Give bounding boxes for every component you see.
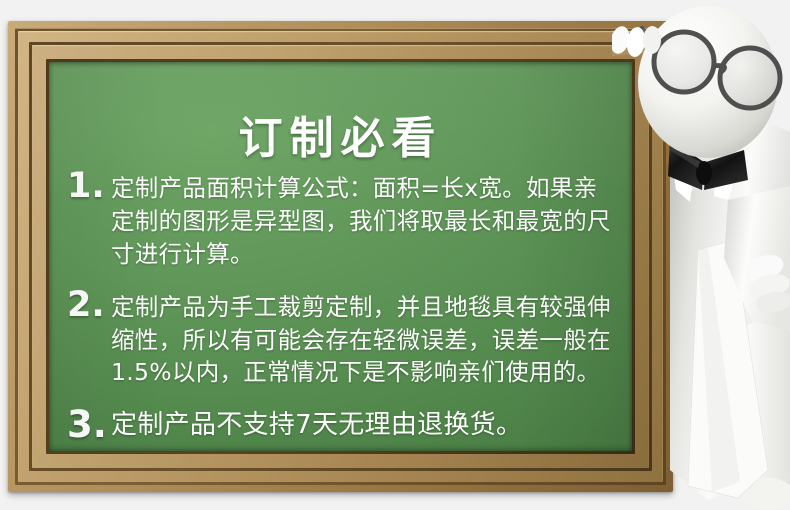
poster-canvas: 订制必看 1. 定制产品面积计算公式：面积=长x宽。如果亲定制的图形是异型图，我… <box>0 0 790 510</box>
rules-list: 1. 定制产品面积计算公式：面积=长x宽。如果亲定制的图形是异型图，我们将取最长… <box>63 170 616 451</box>
rule-number-3: 3. <box>63 407 111 443</box>
mascot-leg-front-shade <box>698 248 740 492</box>
mascot-torso <box>670 120 790 500</box>
page-title: 订制必看 <box>49 102 632 166</box>
mascot-collar-left <box>674 172 694 202</box>
rule-text-1: 定制产品面积计算公式：面积=长x宽。如果亲定制的图形是异型图，我们将取最长和最宽… <box>111 170 616 271</box>
rule-item-2: 2. 定制产品为手工裁剪定制，并且地毯具有较强伸缩性，所以有可能会存在轻微误差，… <box>63 289 616 390</box>
rule-text-3: 定制产品不支持7天无理由退换货。 <box>111 407 616 443</box>
mascot-neck <box>682 142 718 192</box>
chalkboard-surface: 订制必看 1. 定制产品面积计算公式：面积=长x宽。如果亲定制的图形是异型图，我… <box>49 62 632 451</box>
rule-item-3: 3. 定制产品不支持7天无理由退换货。 <box>63 407 616 443</box>
rule-number-2: 2. <box>63 289 111 323</box>
rule-number-1: 1. <box>63 170 111 204</box>
mascot-leg-front <box>688 240 768 498</box>
board-content: 订制必看 1. 定制产品面积计算公式：面积=长x宽。如果亲定制的图形是异型图，我… <box>49 62 632 451</box>
rule-item-1: 1. 定制产品面积计算公式：面积=长x宽。如果亲定制的图形是异型图，我们将取最长… <box>63 170 616 271</box>
mascot-hand <box>741 250 790 315</box>
mascot-foot-back <box>742 478 790 510</box>
bowtie-icon <box>668 140 748 190</box>
mascot-collar-right <box>714 170 736 200</box>
mascot-arm <box>724 186 790 330</box>
rule-text-2: 定制产品为手工裁剪定制，并且地毯具有较强伸缩性，所以有可能会存在轻微误差，误差一… <box>111 289 616 390</box>
mascot-leg-back <box>728 310 790 508</box>
chalkboard-frame: 订制必看 1. 定制产品面积计算公式：面积=长x宽。如果亲定制的图形是异型图，我… <box>8 21 673 492</box>
